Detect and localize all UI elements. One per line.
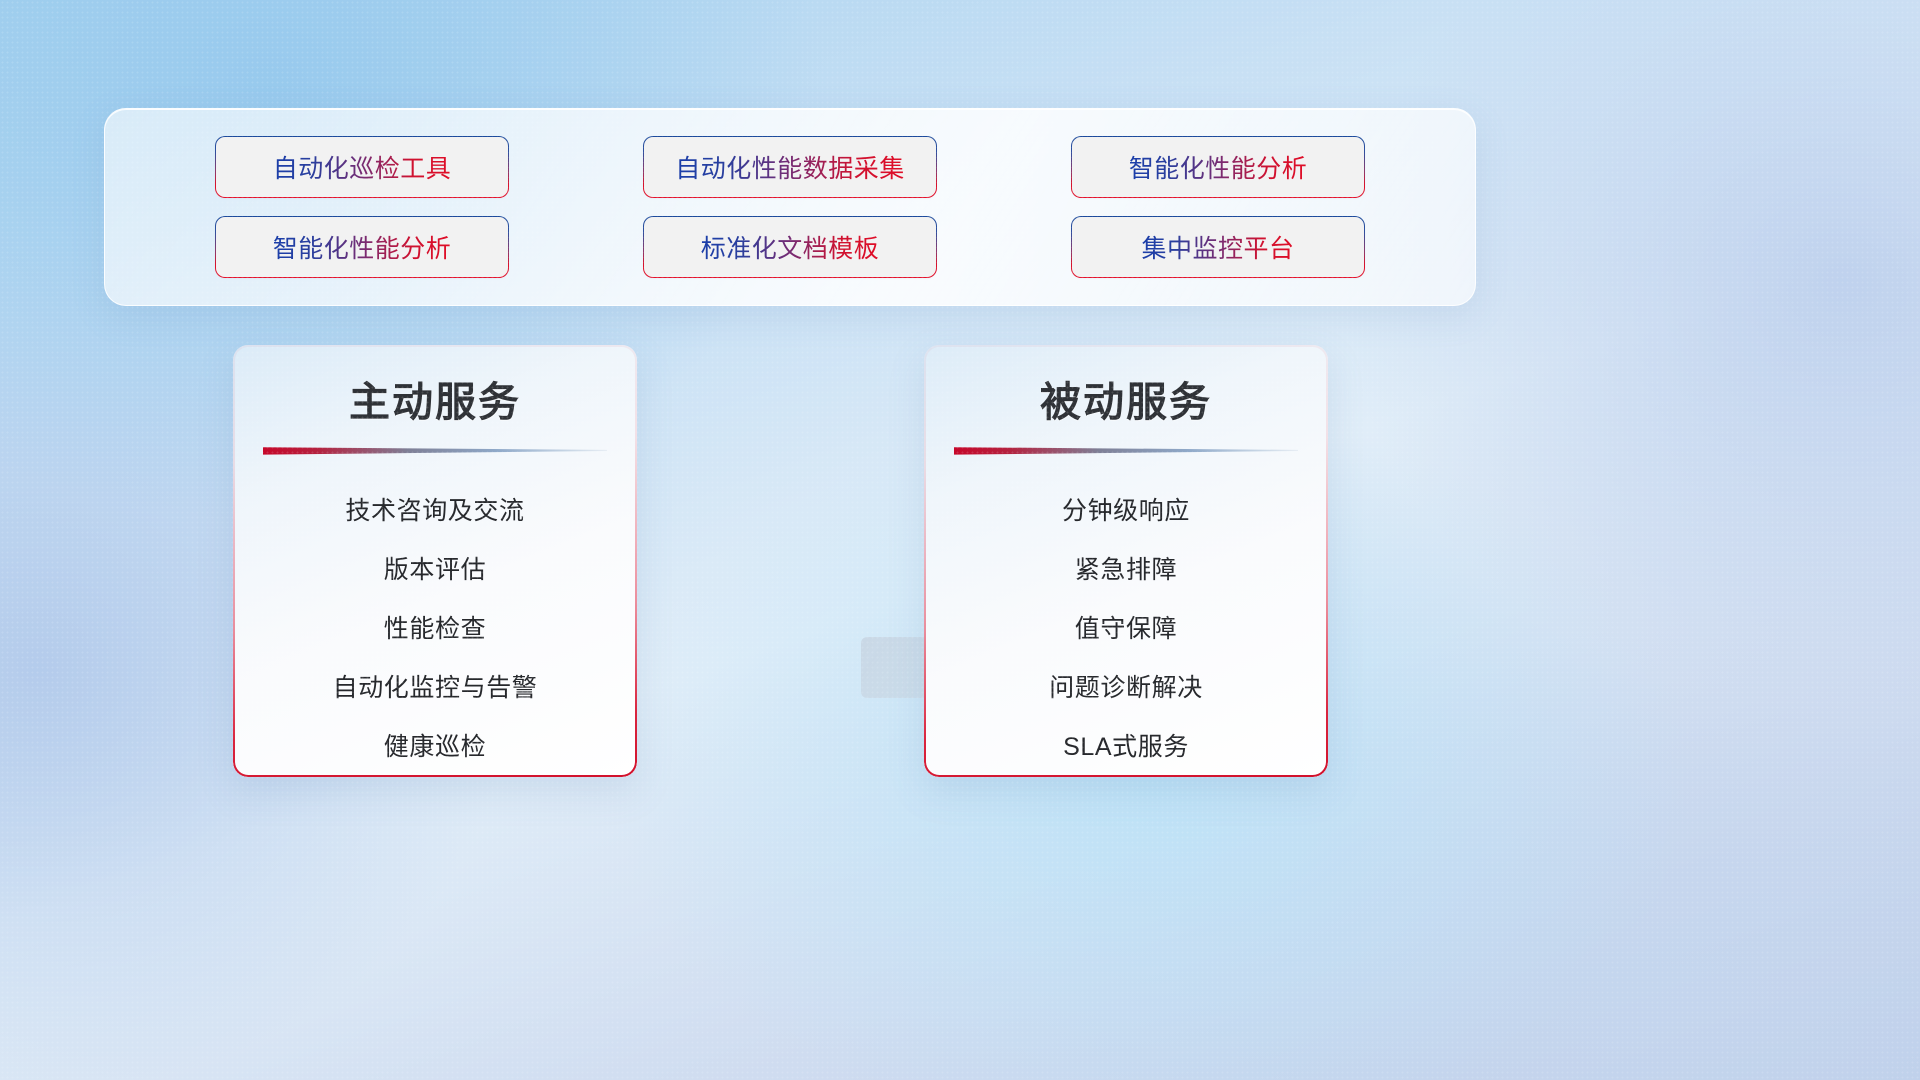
service-item: 紧急排障 xyxy=(924,541,1328,600)
service-card-passive: 被动服务 分钟级响应 紧急排障 值守保障 xyxy=(924,345,1328,777)
service-item: 分钟级响应 xyxy=(924,482,1328,541)
capability-chip[interactable]: 自动化巡检工具 xyxy=(216,137,508,197)
service-item: 性能检查 xyxy=(233,600,637,659)
capability-chip-label: 自动化性能数据采集 xyxy=(675,149,905,185)
capability-chip[interactable]: 智能化性能分析 xyxy=(216,217,508,277)
capability-chip-label: 集中监控平台 xyxy=(1141,229,1294,265)
service-item: SLA式服务 xyxy=(924,718,1328,777)
capability-chip-label: 智能化性能分析 xyxy=(1129,149,1308,185)
title-divider xyxy=(263,446,607,456)
capability-chip-label: 自动化巡检工具 xyxy=(273,149,452,185)
capability-chip[interactable]: 智能化性能分析 xyxy=(1072,137,1364,197)
service-item: 值守保障 xyxy=(924,600,1328,659)
capability-chip[interactable]: 标准化文档模板 xyxy=(644,217,936,277)
capability-chip[interactable]: 集中监控平台 xyxy=(1072,217,1364,277)
service-card-active: 主动服务 技术咨询及交流 版本评估 性能检查 xyxy=(233,345,637,777)
title-divider xyxy=(954,446,1298,456)
service-card-title: 主动服务 xyxy=(233,368,637,428)
service-item: 健康巡检 xyxy=(233,718,637,777)
service-item: 问题诊断解决 xyxy=(924,659,1328,718)
slide-canvas: 自动化巡检工具 自动化性能数据采集 智能化性能分析 智能化性能分析 标准化文档模… xyxy=(0,0,1920,1080)
capabilities-panel: 自动化巡检工具 自动化性能数据采集 智能化性能分析 智能化性能分析 标准化文档模… xyxy=(104,108,1476,306)
service-item: 技术咨询及交流 xyxy=(233,482,637,541)
service-item-list: 技术咨询及交流 版本评估 性能检查 自动化监控与告警 健康巡检 xyxy=(233,482,637,777)
service-card-title: 被动服务 xyxy=(924,368,1328,428)
service-item: 版本评估 xyxy=(233,541,637,600)
service-item-list: 分钟级响应 紧急排障 值守保障 问题诊断解决 SLA式服务 xyxy=(924,482,1328,777)
capability-chip-label: 标准化文档模板 xyxy=(701,229,880,265)
capability-chip[interactable]: 自动化性能数据采集 xyxy=(644,137,936,197)
capability-chip-label: 智能化性能分析 xyxy=(273,229,452,265)
service-item: 自动化监控与告警 xyxy=(233,659,637,718)
